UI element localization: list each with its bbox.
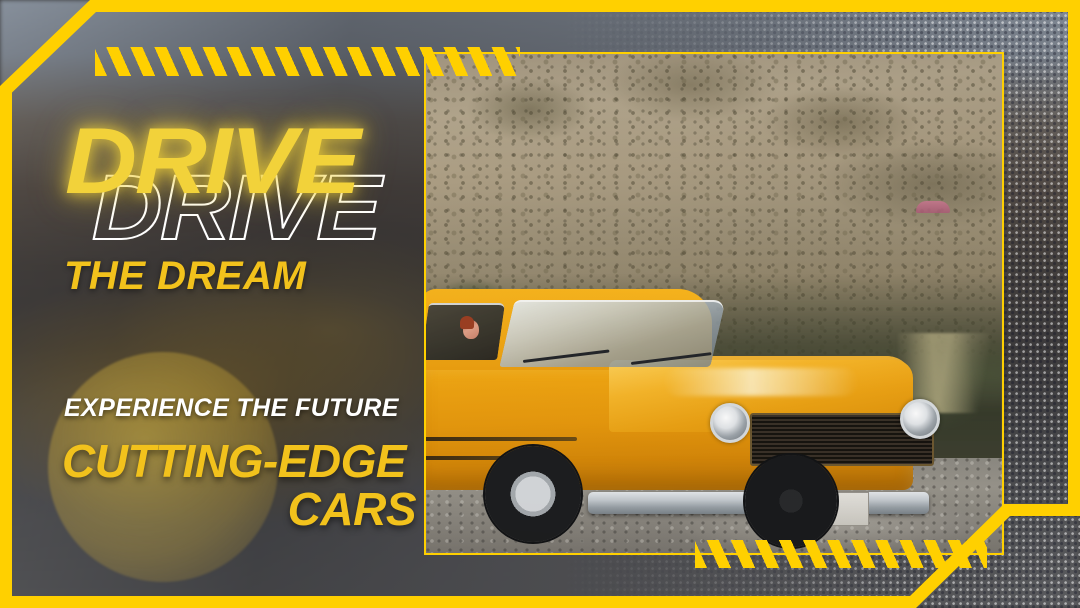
thumbnail-canvas: DRIVE DRIVE THE DREAM EXPERIENCE THE FUT… [0, 0, 1080, 608]
diagonal-stripe-band-bottom [695, 540, 987, 568]
kicker-text: EXPERIENCE THE FUTURE [64, 396, 399, 421]
photo-vignette [426, 54, 1002, 553]
drive-headline-group: DRIVE DRIVE [60, 110, 420, 260]
cars-text: CARS [2, 486, 416, 532]
the-dream-subtitle: THE DREAM [64, 256, 306, 296]
drive-solid-text: DRIVE [65, 114, 359, 208]
copy-block: DRIVE DRIVE THE DREAM EXPERIENCE THE FUT… [0, 0, 424, 608]
hero-photo-card [424, 52, 1004, 555]
hero-photo [426, 54, 1002, 553]
cutting-edge-text: CUTTING-EDGE [62, 438, 406, 484]
